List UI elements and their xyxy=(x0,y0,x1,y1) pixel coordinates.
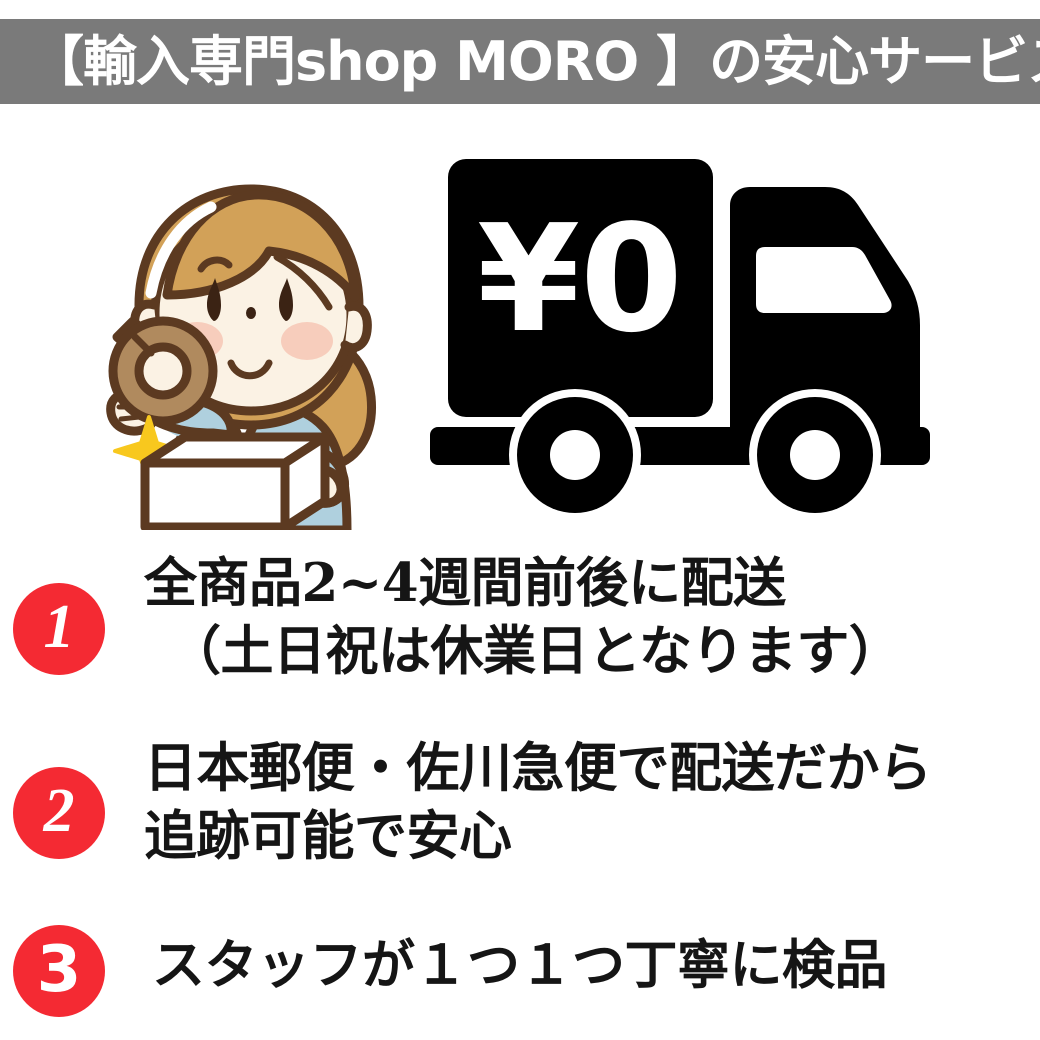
feature-text-3: スタッフが１つ１つ丁寧に検品 xyxy=(152,932,887,1000)
truck-cargo-label: ¥0 xyxy=(477,193,683,365)
feature-item-3: 3 スタッフが１つ１つ丁寧に検品 xyxy=(0,900,1040,1025)
right-cheek xyxy=(281,322,333,360)
feature-item-1: 1 全商品2~4週間前後に配送 （土日祝は休業日となります） xyxy=(0,545,1040,735)
rear-wheel-hub xyxy=(550,430,600,480)
illustration-area: ¥0 xyxy=(0,130,1040,530)
package-box xyxy=(145,437,325,527)
feature-line: （土日祝は休業日となります） xyxy=(144,618,901,686)
front-wheel-hub xyxy=(790,430,840,480)
page-title: 【輸入専門shop MORO 】の安心サービス xyxy=(30,35,1040,89)
woman-inspecting-package-illustration xyxy=(55,145,395,530)
feature-number-badge-1: 1 xyxy=(13,583,105,675)
feature-number-badge-3: 3 xyxy=(13,925,105,1017)
feature-line: スタッフが１つ１つ丁寧に検品 xyxy=(152,932,887,1000)
features-list: 1 全商品2~4週間前後に配送 （土日祝は休業日となります） 2 日本郵便・佐川… xyxy=(0,545,1040,1025)
feature-line: 追跡可能で安心 xyxy=(144,803,932,871)
header-banner: 【輸入専門shop MORO 】の安心サービス xyxy=(0,19,1040,104)
feature-item-2: 2 日本郵便・佐川急便で配送だから 追跡可能で安心 xyxy=(0,735,1040,900)
feature-line: 日本郵便・佐川急便で配送だから xyxy=(144,735,932,803)
feature-text-2: 日本郵便・佐川急便で配送だから 追跡可能で安心 xyxy=(144,735,932,871)
free-shipping-truck-icon: ¥0 xyxy=(420,145,1000,520)
feature-number-badge-2: 2 xyxy=(13,767,105,859)
feature-text-1: 全商品2~4週間前後に配送 （土日祝は休業日となります） xyxy=(144,550,901,686)
feature-line: 全商品2~4週間前後に配送 xyxy=(144,550,901,618)
magnifying-glass xyxy=(113,321,213,421)
